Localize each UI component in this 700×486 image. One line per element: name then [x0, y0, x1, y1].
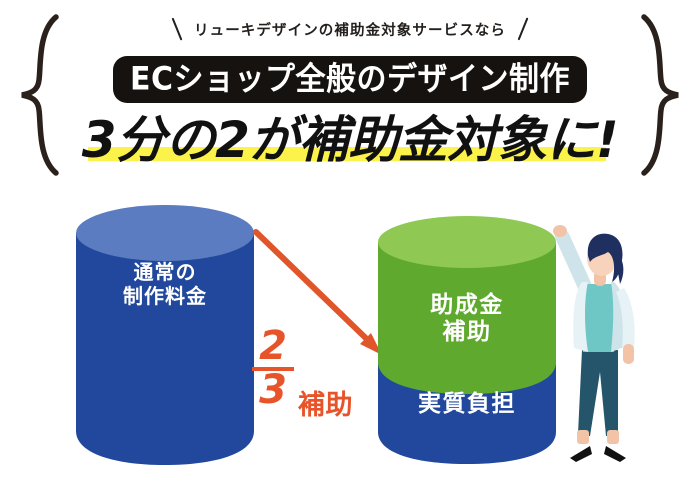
banner-text: ECショップ全般のデザイン制作 — [130, 64, 570, 96]
cylinder-normal-price: 通常の 制作料金 — [74, 203, 256, 465]
eyebrow-text: リューキデザインの補助金対象サービスなら — [194, 19, 506, 40]
main-headline: 3分の2が補助金対象に! — [0, 107, 700, 173]
woman-reaching-illustration — [548, 222, 666, 474]
headline-text: 3分の2が補助金対象に! — [82, 111, 618, 169]
fraction-stack: 2 3 — [252, 328, 294, 409]
fraction-suffix-label: 補助 — [298, 383, 353, 422]
poster-canvas: リューキデザインの補助金対象サービスなら ECショップ全般のデザイン制作 3分の… — [0, 0, 700, 486]
cylinder-top — [378, 216, 556, 268]
slash-right-icon — [516, 17, 530, 41]
cylinder-top — [76, 205, 254, 261]
cylinder-subsidy-split: 助成金 補助 実質負担 — [376, 214, 558, 464]
fraction-denominator: 3 — [259, 372, 287, 409]
eyebrow-row: リューキデザインの補助金対象サービスなら — [0, 16, 700, 42]
headline-banner: ECショップ全般のデザイン制作 — [113, 56, 587, 103]
slash-left-icon — [170, 17, 184, 41]
fraction-numerator: 2 — [259, 328, 287, 365]
cylinder-body — [76, 233, 254, 465]
